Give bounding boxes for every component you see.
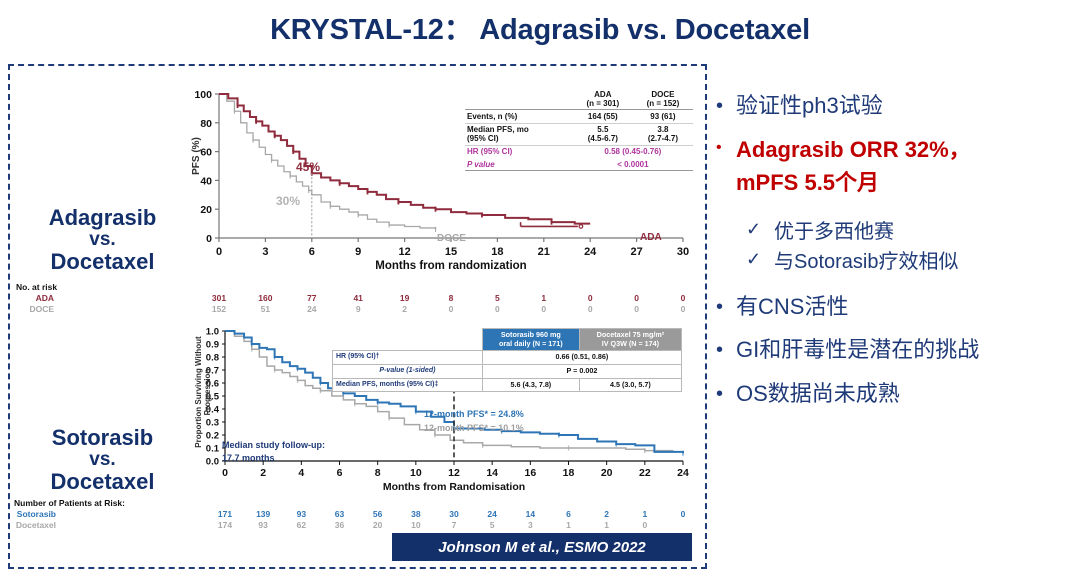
label-line-2: vs.	[20, 230, 185, 251]
annotation-followup-line2: 17.7 months	[222, 453, 275, 463]
risk-value: 30	[441, 509, 467, 519]
risk-value: 2	[594, 509, 620, 519]
svg-text:8: 8	[375, 467, 381, 479]
svg-text:6: 6	[309, 246, 315, 258]
svg-text:9: 9	[355, 246, 361, 258]
risk-value: 19	[392, 293, 418, 303]
risk-value: 3	[517, 520, 543, 530]
risk-value: 0	[531, 304, 557, 314]
risk-value: 56	[365, 509, 391, 519]
key-point-item: •验证性ph3试验	[716, 92, 1074, 120]
key-points-list: •验证性ph3试验•Adagrasib ORR 32%，mPFS 5.5个月✓优…	[716, 92, 1074, 423]
risk-value: 63	[327, 509, 353, 519]
svg-text:100: 100	[194, 89, 212, 101]
annotation-12mo-pfs-sotorasib: 12-month PFS* = 24.8%	[424, 409, 524, 419]
risk-value: 0	[577, 304, 603, 314]
key-point-continuation: mPFS 5.5个月	[736, 169, 1074, 197]
col-header-doce: DOCE (n = 152)	[633, 88, 693, 110]
risk-value: 93	[288, 509, 314, 519]
risk-value: 36	[327, 520, 353, 530]
risk-value: 0	[670, 293, 696, 303]
key-point-item: •OS数据尚未成熟	[716, 380, 1074, 408]
key-point-check-item: ✓优于多西他赛	[746, 219, 1074, 245]
key-point-text: 验证性ph3试验	[736, 92, 883, 120]
bullet-dot-icon: •	[716, 92, 736, 116]
svg-text:3: 3	[262, 246, 268, 258]
cell-sotorasib-median: 5.6 (4.3, 7.8)	[482, 378, 579, 392]
risk-value: 0	[577, 293, 603, 303]
svg-text:27: 27	[630, 246, 642, 258]
svg-text:18: 18	[563, 467, 575, 479]
risk-value: 301	[206, 293, 232, 303]
risk-value: 62	[288, 520, 314, 530]
spacer	[716, 279, 1074, 293]
top-chart-xlabel: Months from randomization	[219, 260, 683, 272]
table-row-median-pfs: Median PFS, mo (95% CI) 5.5 (4.5-6.7) 3.…	[465, 123, 693, 145]
risk-value: 171	[212, 509, 238, 519]
row-label-hr: HR (95% CI)†	[333, 351, 483, 365]
svg-text:0: 0	[206, 233, 212, 245]
row-label-median: Median PFS, months (95% CI)‡	[333, 378, 483, 392]
key-point-item: •GI和肝毒性是潜在的挑战	[716, 336, 1074, 364]
annotation-12mo-pfs-docetaxel: 12-month PFS* = 10.1%	[424, 423, 524, 433]
row-label: Events, n (%)	[465, 110, 573, 123]
row-label: Median PFS, mo (95% CI)	[465, 123, 573, 145]
row-label-pvalue: P value	[465, 158, 573, 171]
key-point-text: 有CNS活性	[736, 293, 848, 321]
risk-value: 6	[556, 509, 582, 519]
svg-text:2: 2	[260, 467, 266, 479]
svg-text:14: 14	[486, 467, 498, 479]
svg-text:15: 15	[445, 246, 457, 258]
key-point-text: mPFS 5.5个月	[736, 169, 879, 197]
risk-value: 0	[484, 304, 510, 314]
key-point-text: 与Sotorasib疗效相似	[774, 249, 959, 275]
key-point-text: GI和肝毒性是潜在的挑战	[736, 336, 979, 364]
key-point-item: •有CNS活性	[716, 293, 1074, 321]
key-point-text: 优于多西他赛	[774, 219, 894, 245]
section-label-adagrasib: Adagrasib vs. Docetaxel	[20, 206, 185, 274]
cell-doce: 93 (61)	[633, 110, 693, 123]
table-row-pvalue: P-value (1-sided) P = 0.002	[333, 364, 682, 378]
risk-value: 93	[250, 520, 276, 530]
svg-text:16: 16	[524, 467, 536, 479]
key-point-check-item: ✓与Sotorasib疗效相似	[746, 249, 1074, 275]
cell-docetaxel-median: 4.5 (3.0, 5.7)	[579, 378, 681, 392]
risk-value: 41	[345, 293, 371, 303]
risk-value: 0	[670, 509, 696, 519]
label-line-3: Docetaxel	[20, 470, 185, 494]
svg-text:0: 0	[216, 246, 222, 258]
table-row-median-pfs: Median PFS, months (95% CI)‡ 5.6 (4.3, 7…	[333, 378, 682, 392]
risk-value: 0	[438, 304, 464, 314]
cell-p-value: P = 0.002	[482, 364, 681, 378]
bullet-dot-icon: •	[716, 136, 736, 156]
cell-ada: 164 (55)	[573, 110, 633, 123]
key-point-item: •Adagrasib ORR 32%，	[716, 136, 1074, 164]
svg-text:6: 6	[337, 467, 343, 479]
bullet-dot-icon: •	[716, 336, 736, 360]
svg-text:80: 80	[200, 118, 212, 130]
svg-text:0.0: 0.0	[206, 457, 219, 468]
table-row-events: Events, n (%) 164 (55) 93 (61)	[465, 110, 693, 123]
label-line-1: Sotorasib	[20, 426, 185, 450]
risk-value: 2	[392, 304, 418, 314]
svg-text:0: 0	[222, 467, 228, 479]
bullet-dot-icon: •	[716, 293, 736, 317]
risk-row-label: DOCE	[14, 304, 54, 314]
risk-value: 0	[670, 304, 696, 314]
svg-text:22: 22	[639, 467, 651, 479]
key-point-text: OS数据尚未成熟	[736, 380, 900, 408]
svg-text:20: 20	[200, 204, 212, 216]
risk-value: 38	[403, 509, 429, 519]
risk-row-label: Sotorasib	[0, 509, 56, 519]
bottom-chart-ylabel: Proportion Surviving Without Progression	[195, 327, 213, 457]
codebreak200-stats-table: Sotorasib 960 mg oral daily (N = 171) Do…	[332, 328, 682, 392]
label-line-2: vs.	[20, 450, 185, 471]
row-label-hr: HR (95% CI)	[465, 145, 573, 158]
risk-value: 7	[441, 520, 467, 530]
label-line-3: Docetaxel	[20, 250, 185, 274]
risk-value: 5	[479, 520, 505, 530]
svg-text:24: 24	[584, 246, 597, 258]
risk-value: 10	[403, 520, 429, 530]
page-title: KRYSTAL-12： Adagrasib vs. Docetaxel	[0, 6, 1080, 48]
risk-value: 0	[624, 293, 650, 303]
col-header-docetaxel: Docetaxel 75 mg/m² IV Q3W (N = 174)	[579, 329, 681, 351]
risk-value: 0	[624, 304, 650, 314]
svg-text:30: 30	[677, 246, 689, 258]
checkmark-icon: ✓	[746, 249, 774, 270]
risk-value: 174	[212, 520, 238, 530]
risk-value: 14	[517, 509, 543, 519]
risk-table-title: No. at risk	[16, 282, 57, 292]
table-row-hr: HR (95% CI)† 0.66 (0.51, 0.86)	[333, 351, 682, 365]
svg-text:18: 18	[491, 246, 503, 258]
annotation-doce-30pct: 30%	[276, 194, 300, 208]
cell-hr-value: 0.58 (0.45-0.76)	[573, 145, 693, 158]
label-line-1: Adagrasib	[20, 206, 185, 230]
risk-value: 24	[479, 509, 505, 519]
risk-value: 1	[556, 520, 582, 530]
svg-text:4: 4	[298, 467, 304, 479]
risk-table-title: Number of Patients at Risk:	[14, 498, 125, 508]
risk-value: 1	[632, 509, 658, 519]
table-header-row: ADA (n = 301) DOCE (n = 152)	[465, 88, 693, 110]
svg-text:21: 21	[538, 246, 550, 258]
risk-value: 77	[299, 293, 325, 303]
svg-text:60: 60	[200, 147, 212, 159]
risk-value: 51	[252, 304, 278, 314]
risk-value: 5	[484, 293, 510, 303]
curve-label-ada: ADA	[640, 232, 662, 243]
col-header-ada: ADA (n = 301)	[573, 88, 633, 110]
svg-text:40: 40	[200, 175, 212, 187]
svg-text:24: 24	[677, 467, 689, 479]
bottom-chart-xlabel: Months from Randomisation	[225, 481, 683, 493]
svg-text:12: 12	[398, 246, 410, 258]
curve-label-doce: DOCE	[437, 233, 466, 244]
risk-value: 152	[206, 304, 232, 314]
svg-text:20: 20	[601, 467, 613, 479]
risk-value: 8	[438, 293, 464, 303]
section-label-sotorasib: Sotorasib vs. Docetaxel	[20, 426, 185, 494]
table-header-row: Sotorasib 960 mg oral daily (N = 171) Do…	[333, 329, 682, 351]
krystal12-stats-table: ADA (n = 301) DOCE (n = 152) Events, n (…	[465, 88, 693, 171]
cell-ada: 5.5 (4.5-6.7)	[573, 123, 633, 145]
table-row-hr: HR (95% CI) 0.58 (0.45-0.76)	[465, 145, 693, 158]
annotation-ada-45pct: 45%	[296, 160, 320, 174]
risk-value: 160	[252, 293, 278, 303]
risk-value: 1	[531, 293, 557, 303]
cell-doce: 3.8 (2.7-4.7)	[633, 123, 693, 145]
citation-bar: Johnson M et al., ESMO 2022	[392, 533, 692, 561]
row-label-pvalue: P-value (1-sided)	[333, 364, 483, 378]
annotation-followup-line1: Median study follow-up:	[222, 440, 325, 450]
top-chart-ylabel: PFS (%)	[191, 111, 202, 201]
slide-root: KRYSTAL-12： Adagrasib vs. Docetaxel Adag…	[0, 0, 1080, 577]
cell-hr-value: 0.66 (0.51, 0.86)	[482, 351, 681, 365]
checkmark-icon: ✓	[746, 219, 774, 240]
key-point-text: Adagrasib ORR 32%，	[736, 136, 971, 164]
svg-text:12: 12	[448, 467, 460, 479]
risk-value: 139	[250, 509, 276, 519]
risk-row-label: Docetaxel	[0, 520, 56, 530]
cell-p-value: < 0.0001	[573, 158, 693, 171]
col-header-sotorasib: Sotorasib 960 mg oral daily (N = 171)	[482, 329, 579, 351]
risk-value: 24	[299, 304, 325, 314]
svg-text:10: 10	[410, 467, 422, 479]
bullet-dot-icon: •	[716, 380, 736, 404]
risk-value: 9	[345, 304, 371, 314]
table-row-pvalue: P value < 0.0001	[465, 158, 693, 171]
risk-value: 0	[632, 520, 658, 530]
risk-row-label: ADA	[14, 293, 54, 303]
risk-value: 20	[365, 520, 391, 530]
risk-value: 1	[594, 520, 620, 530]
